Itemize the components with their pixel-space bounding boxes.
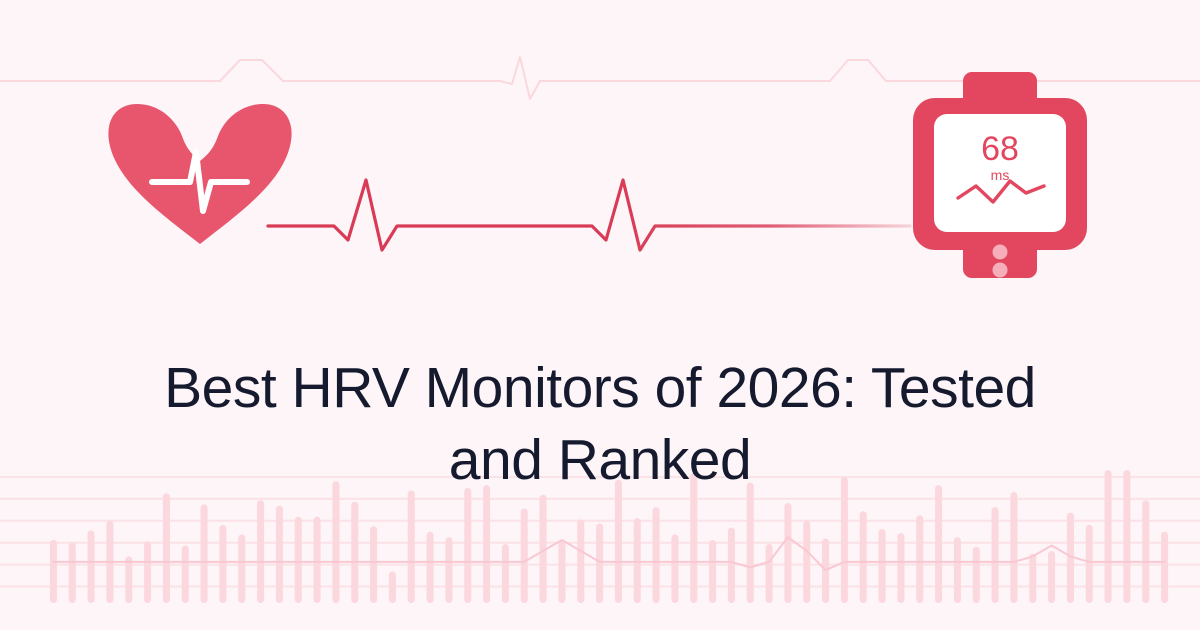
watch-button-dot-top <box>993 245 1008 260</box>
smartwatch-layer: 68 ms <box>0 0 1200 630</box>
watch-hrv-unit: ms <box>991 167 1010 183</box>
page-title: Best HRV Monitors of 2026: Tested and Ra… <box>145 352 1055 496</box>
smartwatch-hrv-reading: 68 ms <box>913 72 1087 278</box>
page-title-block: Best HRV Monitors of 2026: Tested and Ra… <box>0 352 1200 496</box>
share-card-canvas: 68 ms Best HRV Monitors of 2026: Tested … <box>0 0 1200 630</box>
watch-button-dot-bottom <box>993 263 1008 278</box>
watch-hrv-value: 68 <box>981 130 1019 168</box>
